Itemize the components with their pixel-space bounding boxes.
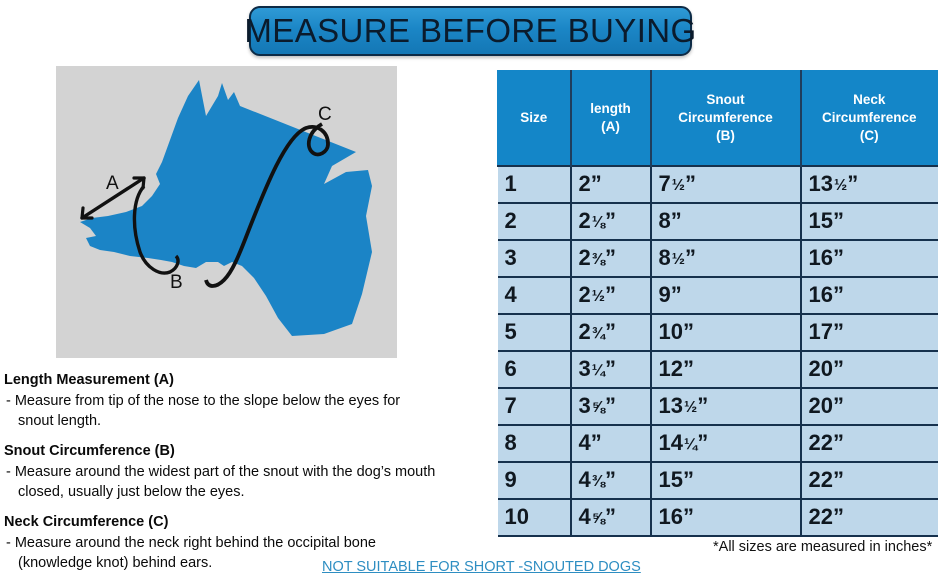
instruction-block-length: Length Measurement (A) - Measure from ti…	[4, 371, 484, 431]
instruction-heading: Length Measurement (A)	[4, 371, 484, 390]
value-whole: 13	[809, 171, 833, 196]
instruction-text: - Measure around the widest part of the …	[4, 462, 484, 502]
value-unit: ”	[605, 393, 616, 418]
instruction-line-1: - Measure around the neck right behind t…	[6, 535, 376, 551]
value-whole: 20	[809, 356, 833, 381]
value-whole: 7	[659, 171, 671, 196]
cell-size: 5	[498, 314, 571, 351]
value-fraction: ½	[834, 177, 847, 195]
cell-size: 3	[498, 240, 571, 277]
value-unit: ”	[683, 319, 694, 344]
table-row: 42½”9”16”	[498, 277, 938, 314]
value-whole: 3	[579, 356, 591, 381]
value-unit: ”	[683, 356, 694, 381]
value-unit: ”	[833, 356, 844, 381]
value-fraction: ⅝	[592, 399, 605, 417]
header-line-1: Size	[520, 110, 547, 125]
value-unit: ”	[671, 282, 682, 307]
value-unit: ”	[605, 467, 616, 492]
cell-size: 4	[498, 277, 571, 314]
value-fraction: ½	[684, 399, 697, 417]
value-whole: 17	[809, 319, 833, 344]
cell-snout-circumference: 8½”	[651, 240, 801, 277]
value-whole: 16	[809, 245, 833, 270]
value-unit: ”	[591, 171, 602, 196]
instruction-text: - Measure from tip of the nose to the sl…	[4, 391, 484, 431]
table-row: 22⅛”8”15”	[498, 203, 938, 240]
cell-length: 2”	[571, 166, 651, 203]
instruction-line-2: snout length.	[6, 411, 484, 431]
cell-length: 2¾”	[571, 314, 651, 351]
value-fraction: ½	[592, 288, 605, 306]
value-whole: 8	[659, 245, 671, 270]
value-unit: ”	[685, 171, 696, 196]
value-unit: ”	[605, 245, 616, 270]
value-unit: ”	[605, 208, 616, 233]
value-fraction: ¼	[592, 362, 605, 380]
cell-snout-circumference: 15”	[651, 462, 801, 499]
cell-neck-circumference: 20”	[801, 388, 938, 425]
value-whole: 2	[579, 171, 591, 196]
value-unit: ”	[833, 319, 844, 344]
cell-size: 2	[498, 203, 571, 240]
value-unit: ”	[833, 208, 844, 233]
column-header-neck-circumference: Neck Circumference (C)	[801, 71, 938, 166]
cell-length: 3¼”	[571, 351, 651, 388]
value-unit: ”	[605, 282, 616, 307]
table-row: 104⅝”16”22”	[498, 499, 938, 536]
measurement-instructions: Length Measurement (A) - Measure from ti…	[4, 371, 484, 584]
value-unit: ”	[833, 393, 844, 418]
value-whole: 2	[579, 282, 591, 307]
cell-neck-circumference: 20”	[801, 351, 938, 388]
value-whole: 16	[659, 504, 683, 529]
value-unit: ”	[605, 319, 616, 344]
header-line-1: Snout	[706, 92, 744, 107]
value-unit: ”	[685, 245, 696, 270]
value-fraction: ⅛	[592, 214, 605, 232]
header-line-2: (A)	[601, 119, 620, 134]
cell-length: 4⅝”	[571, 499, 651, 536]
value-whole: 3	[579, 393, 591, 418]
value-fraction: ½	[672, 177, 685, 195]
value-unit: ”	[833, 430, 844, 455]
instruction-line-1: - Measure from tip of the nose to the sl…	[6, 393, 400, 409]
cell-neck-circumference: 22”	[801, 499, 938, 536]
table-header-row: Size length (A) Snout Circumference (B) …	[498, 71, 938, 166]
value-whole: 2	[579, 319, 591, 344]
value-whole: 9	[659, 282, 671, 307]
instruction-line-2: closed, usually just below the eyes.	[6, 482, 484, 502]
value-unit: ”	[683, 504, 694, 529]
value-fraction: ¼	[684, 436, 697, 454]
cell-length: 4”	[571, 425, 651, 462]
title-banner: MEASURE BEFORE BUYING	[249, 6, 692, 56]
value-fraction: ¾	[592, 325, 605, 343]
cell-snout-circumference: 7½”	[651, 166, 801, 203]
value-whole: 22	[809, 467, 833, 492]
value-unit: ”	[671, 208, 682, 233]
value-unit: ”	[833, 467, 844, 492]
table-row: 73⅝”13½”20”	[498, 388, 938, 425]
cell-length: 3⅝”	[571, 388, 651, 425]
value-unit: ”	[697, 393, 708, 418]
cell-neck-circumference: 16”	[801, 277, 938, 314]
value-unit: ”	[683, 467, 694, 492]
cell-size: 6	[498, 351, 571, 388]
instruction-heading: Snout Circumference (B)	[4, 442, 484, 461]
value-whole: 4	[579, 467, 591, 492]
value-whole: 22	[809, 504, 833, 529]
cell-neck-circumference: 22”	[801, 425, 938, 462]
table-header: Size length (A) Snout Circumference (B) …	[498, 71, 938, 166]
header-line-3: (B)	[716, 128, 735, 143]
value-fraction: ⅜	[592, 473, 605, 491]
cell-snout-circumference: 8”	[651, 203, 801, 240]
cell-snout-circumference: 12”	[651, 351, 801, 388]
cell-size: 10	[498, 499, 571, 536]
cell-size: 9	[498, 462, 571, 499]
table-row: 52¾”10”17”	[498, 314, 938, 351]
cell-length: 2⅜”	[571, 240, 651, 277]
value-fraction: ⅝	[592, 510, 605, 528]
table-row: 94⅜”15”22”	[498, 462, 938, 499]
cell-size: 7	[498, 388, 571, 425]
column-header-snout-circumference: Snout Circumference (B)	[651, 71, 801, 166]
cell-length: 2½”	[571, 277, 651, 314]
table-row: 63¼”12”20”	[498, 351, 938, 388]
cell-snout-circumference: 13½”	[651, 388, 801, 425]
value-unit: ”	[833, 504, 844, 529]
cell-snout-circumference: 14¼”	[651, 425, 801, 462]
value-unit: ”	[591, 430, 602, 455]
instruction-heading: Neck Circumference (C)	[4, 513, 484, 532]
cell-length: 2⅛”	[571, 203, 651, 240]
dog-measurement-illustration: A B C	[56, 66, 397, 358]
units-note: *All sizes are measured in inches*	[713, 539, 932, 555]
value-whole: 4	[579, 430, 591, 455]
value-whole: 20	[809, 393, 833, 418]
dog-head-diagram: A B C	[56, 66, 397, 358]
cell-neck-circumference: 15”	[801, 203, 938, 240]
value-unit: ”	[605, 356, 616, 381]
header-line-2: Circumference	[822, 110, 917, 125]
value-whole: 2	[579, 208, 591, 233]
cell-length: 4⅜”	[571, 462, 651, 499]
value-whole: 15	[659, 467, 683, 492]
value-unit: ”	[833, 282, 844, 307]
cell-snout-circumference: 16”	[651, 499, 801, 536]
value-unit: ”	[697, 430, 708, 455]
value-whole: 8	[659, 208, 671, 233]
value-fraction: ½	[672, 251, 685, 269]
cell-neck-circumference: 13½”	[801, 166, 938, 203]
header-line-1: length	[590, 101, 631, 116]
value-whole: 10	[659, 319, 683, 344]
cell-size: 1	[498, 166, 571, 203]
value-whole: 22	[809, 430, 833, 455]
instruction-block-snout: Snout Circumference (B) - Measure around…	[4, 442, 484, 502]
instruction-line-1: - Measure around the widest part of the …	[6, 464, 435, 480]
value-whole: 2	[579, 245, 591, 270]
header-line-3: (C)	[860, 128, 879, 143]
value-whole: 12	[659, 356, 683, 381]
value-whole: 14	[659, 430, 683, 455]
not-suitable-note: NOT SUITABLE FOR SHORT -SNOUTED DOGS	[322, 559, 641, 575]
table-row: 84”14¼”22”	[498, 425, 938, 462]
cell-snout-circumference: 10”	[651, 314, 801, 351]
table-row: 12”7½”13½”	[498, 166, 938, 203]
cell-neck-circumference: 22”	[801, 462, 938, 499]
value-unit: ”	[833, 245, 844, 270]
value-unit: ”	[847, 171, 858, 196]
cell-snout-circumference: 9”	[651, 277, 801, 314]
value-whole: 15	[809, 208, 833, 233]
table-body: 12”7½”13½”22⅛”8”15”32⅜”8½”16”42½”9”16”52…	[498, 166, 938, 536]
label-b: B	[170, 272, 183, 293]
header-line-2: Circumference	[678, 110, 773, 125]
value-fraction: ⅜	[592, 251, 605, 269]
cell-size: 8	[498, 425, 571, 462]
table-row: 32⅜”8½”16”	[498, 240, 938, 277]
label-c: C	[318, 104, 332, 125]
column-header-length: length (A)	[571, 71, 651, 166]
cell-neck-circumference: 16”	[801, 240, 938, 277]
value-whole: 13	[659, 393, 683, 418]
cell-neck-circumference: 17”	[801, 314, 938, 351]
size-chart-table: Size length (A) Snout Circumference (B) …	[497, 70, 938, 537]
page-title: MEASURE BEFORE BUYING	[244, 12, 696, 50]
header-line-1: Neck	[853, 92, 885, 107]
value-whole: 4	[579, 504, 591, 529]
column-header-size: Size	[498, 71, 571, 166]
label-a: A	[106, 173, 119, 194]
value-unit: ”	[605, 504, 616, 529]
value-whole: 16	[809, 282, 833, 307]
